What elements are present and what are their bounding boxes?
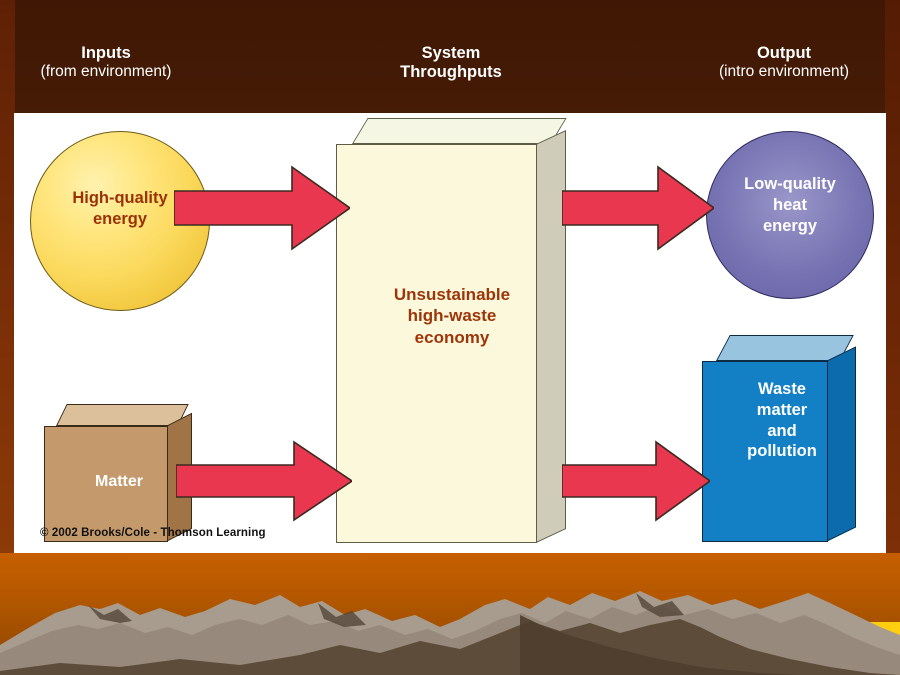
matter-box-top-face [56,404,189,426]
matter-input-label: Matter [44,472,194,492]
heading-output: Output (intro environment) [678,44,890,82]
copyright-notice: © 2002 Brooks/Cole - Thomson Learning [40,527,266,539]
heading-system: System Throughputs [345,44,557,83]
diagram-panel: High-qualityenergy Matter Unsustainableh… [14,113,886,553]
system-box-top-face [352,118,567,144]
arrow-system-to-waste [562,439,710,523]
heading-system-line2: Throughputs [345,63,557,82]
mountain-silhouette [0,575,900,675]
arrow-energy-to-system [174,163,350,253]
slide-canvas: Inputs (from environment) System Through… [0,0,900,675]
heading-row: Inputs (from environment) System Through… [0,40,900,100]
system-throughput-box: Unsustainablehigh-wasteeconomy [336,118,568,543]
arrow-system-to-heat [562,163,714,253]
heat-output-label: Low-qualityheatenergy [707,174,873,237]
heading-output-line2: (intro environment) [678,63,890,81]
heading-inputs-line1: Inputs [0,44,212,63]
waste-output-label: Wastematterandpollution [702,379,862,462]
matter-input-box: Matter [44,404,194,542]
heat-output-circle: Low-qualityheatenergy [706,131,874,299]
heading-inputs: Inputs (from environment) [0,44,212,82]
heading-system-line1: System [345,44,557,63]
arrow-matter-to-system [176,439,352,523]
waste-output-box: Wastematterandpollution [702,335,862,542]
heading-inputs-line2: (from environment) [0,63,212,81]
system-throughput-label: Unsustainablehigh-wasteeconomy [336,284,568,348]
heading-output-line1: Output [678,44,890,63]
